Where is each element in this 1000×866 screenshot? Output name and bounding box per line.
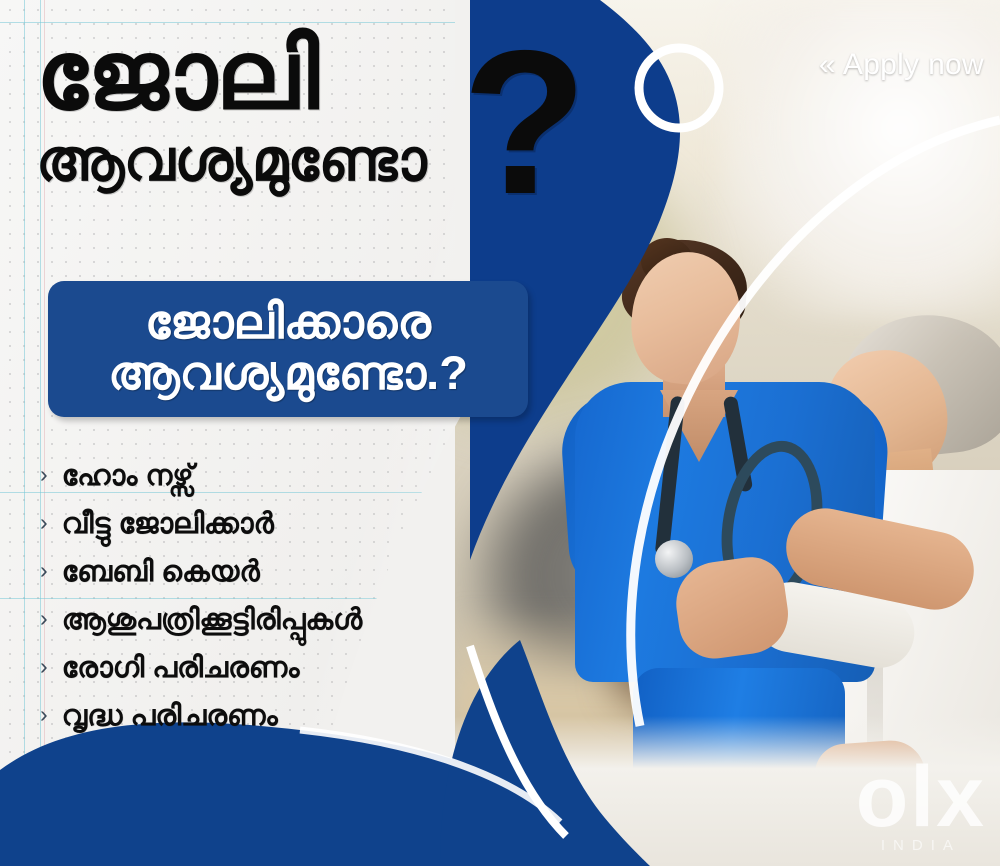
service-label: വൃദ്ധ പരിചരണം: [62, 702, 278, 731]
service-label: വീട്ടു ജോലിക്കാർ: [62, 510, 274, 539]
service-label: ഹോം നഴ്സ്: [62, 462, 194, 491]
job-advertisement-poster: ജോലി ആവശ്യമുണ്ടോ ? « Apply now ജോലിക്കാര…: [0, 0, 1000, 866]
chevron-right-icon: ›: [40, 463, 48, 486]
apply-now-label[interactable]: « Apply now: [819, 48, 984, 82]
list-item: › വൃദ്ധ പരിചരണം: [40, 692, 470, 740]
list-item: › ഹോം നഴ്സ്: [40, 452, 470, 500]
banner-line-1: ജോലിക്കാരെ: [62, 297, 514, 348]
list-item: › വീട്ടു ജോലിക്കാർ: [40, 500, 470, 548]
chevron-right-icon: ›: [40, 655, 48, 678]
chevron-right-icon: ›: [40, 559, 48, 582]
bed-sheet: [455, 716, 1000, 866]
banner-line-2: ആവശ്യമുണ്ടോ.?: [62, 348, 514, 399]
list-item: › ആശുപത്രിക്കൂട്ടിരിപ്പുകൾ: [40, 596, 470, 644]
list-item: › ബേബി കെയർ: [40, 548, 470, 596]
service-label: ആശുപത്രിക്കൂട്ടിരിപ്പുകൾ: [62, 606, 362, 635]
chevron-right-icon: ›: [40, 607, 48, 630]
question-mark-glyph: ?: [462, 20, 587, 225]
list-item: › രോഗി പരിചരണം: [40, 644, 470, 692]
status-badge: ജോലിക്കാരെ ആവശ്യമുണ്ടോ.?: [48, 281, 528, 417]
guide-line-vertical: [24, 0, 25, 866]
chevron-right-icon: ›: [40, 511, 48, 534]
stethoscope-chestpiece: [655, 540, 693, 578]
service-label: ബേബി കെയർ: [62, 558, 260, 587]
chevron-right-icon: ›: [40, 703, 48, 726]
service-label: രോഗി പരിചരണം: [62, 654, 300, 683]
service-list: › ഹോം നഴ്സ് › വീട്ടു ജോലിക്കാർ › ബേബി കെ…: [40, 452, 470, 740]
